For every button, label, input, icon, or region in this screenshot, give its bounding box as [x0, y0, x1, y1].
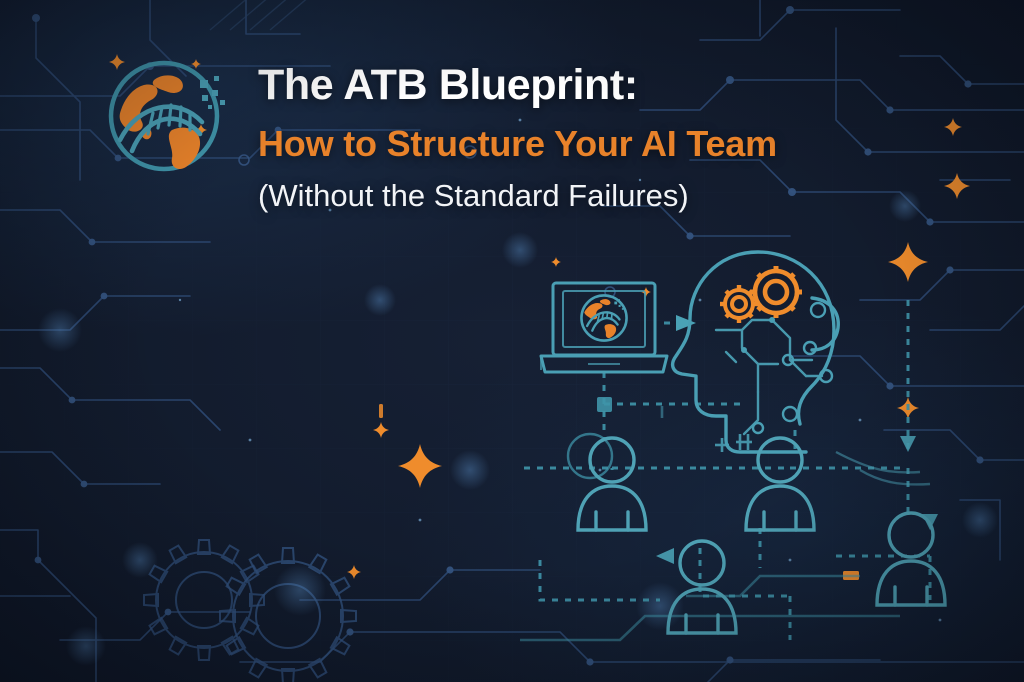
vignette-overlay — [0, 0, 1024, 682]
hero-banner: The ATB Blueprint: How to Structure Your… — [0, 0, 1024, 682]
